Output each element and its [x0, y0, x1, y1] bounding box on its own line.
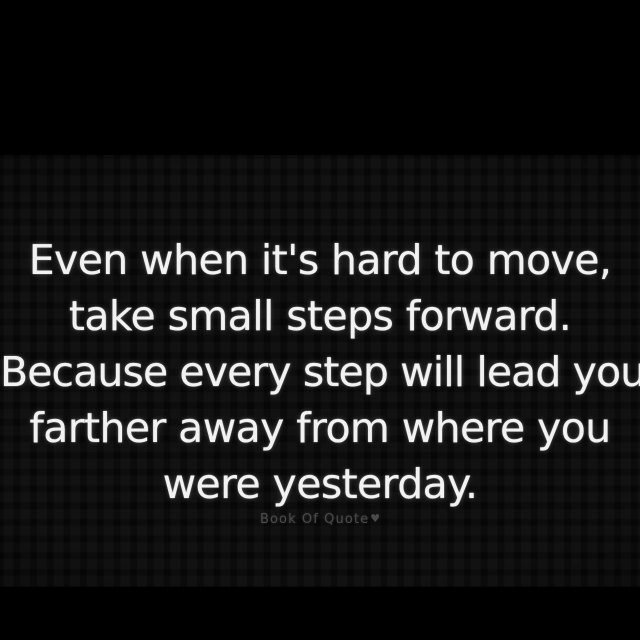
heart-icon: ♥: [370, 512, 380, 525]
quote-line-3: Because every step will lead you: [0, 344, 640, 400]
quote-line-1: Even when it's hard to move,: [0, 232, 640, 288]
attribution-label: Book Of Quote: [260, 512, 369, 527]
quote-text-block: Even when it's hard to move, take small …: [0, 232, 640, 512]
quote-line-5: were yesterday.: [0, 456, 640, 512]
quote-line-4: farther away from where you: [0, 400, 640, 456]
letterbox-bar-top: [0, 0, 640, 155]
letterbox-bar-bottom: [0, 587, 640, 640]
quote-line-2: take small steps forward.: [0, 288, 640, 344]
attribution: Book Of Quote♥: [0, 508, 640, 527]
quote-image: Even when it's hard to move, take small …: [0, 0, 640, 640]
